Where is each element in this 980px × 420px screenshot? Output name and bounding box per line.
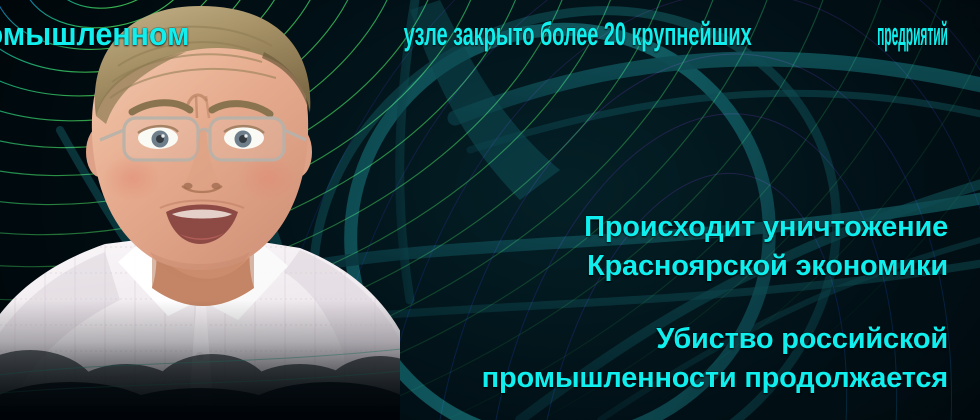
headline-secondary: Происходит уничтожение Красноярской экон… (584, 208, 948, 286)
headline-primary-line-3: узле закрыто более 20 крупнейших (404, 12, 752, 56)
headline-primary: За последние 20 лет в Красноярском промы… (0, 12, 948, 56)
headline-secondary-line-1: Происходит уничтожение (584, 208, 948, 247)
portrait-container (0, 0, 400, 420)
headline-primary-line-2: в Красноярском промышленном (0, 12, 189, 56)
portrait-photo (0, 0, 400, 420)
banner-image: За последние 20 лет в Красноярском промы… (0, 0, 980, 420)
headline-tertiary-line-2: промышленности продолжается (482, 359, 948, 398)
headline-primary-line-4: предриятий (877, 12, 948, 56)
headline-secondary-line-2: Красноярской экономики (584, 247, 948, 286)
headline-tertiary-line-1: Убиство российской (482, 320, 948, 359)
headline-tertiary: Убиство российской промышленности продол… (482, 320, 948, 398)
